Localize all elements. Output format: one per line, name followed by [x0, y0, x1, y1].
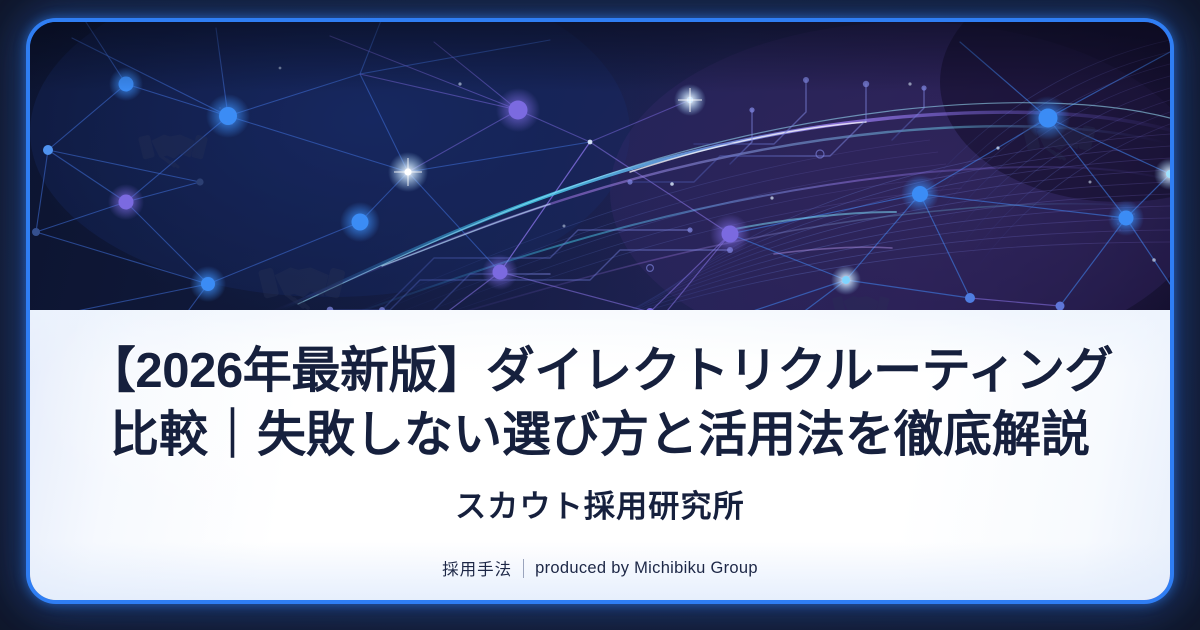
hero-artwork [30, 22, 1170, 310]
handshake-icon [833, 297, 890, 310]
handshake-icon [259, 268, 345, 308]
thumbnail-card: 【2026年最新版】ダイレクトリクルーティング 比較｜失敗しない選び方と活用法を… [30, 22, 1170, 600]
og-image-stage: 【2026年最新版】ダイレクトリクルーティング 比較｜失敗しない選び方と活用法を… [0, 0, 1200, 630]
text-panel: 【2026年最新版】ダイレクトリクルーティング 比較｜失敗しない選び方と活用法を… [30, 310, 1170, 600]
footer-credit-line: 採用手法 produced by Michibiku Group [74, 556, 1126, 580]
page-title: 【2026年最新版】ダイレクトリクルーティング 比較｜失敗しない選び方と活用法を… [74, 340, 1126, 467]
hero-graphics [30, 22, 1170, 310]
footer-separator-icon [523, 559, 524, 578]
page-title-line-1: 【2026年最新版】ダイレクトリクルーティング [74, 340, 1126, 404]
site-name: スカウト採用研究所 [74, 481, 1126, 526]
footer-category: 採用手法 [442, 556, 512, 580]
page-title-line-2: 比較｜失敗しない選び方と活用法を徹底解説 [74, 404, 1126, 468]
footer-producer: produced by Michibiku Group [535, 559, 758, 578]
